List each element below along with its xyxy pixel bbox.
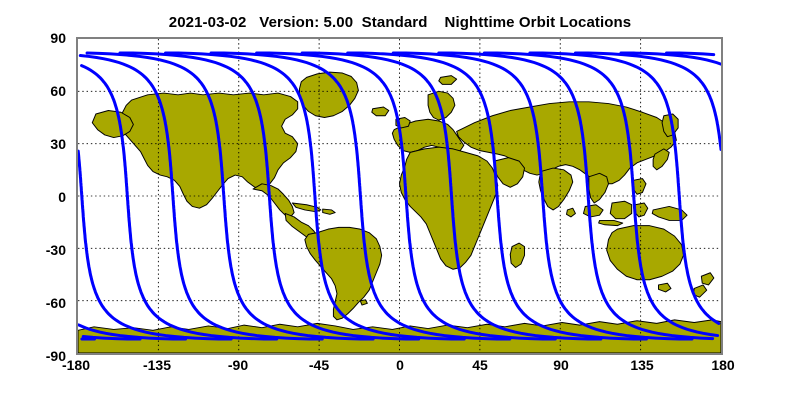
land-madagascar xyxy=(510,243,524,267)
y-tick-label-60: 60 xyxy=(2,84,66,98)
x-tick-label-45: 45 xyxy=(450,358,510,372)
land-iceland xyxy=(372,107,389,116)
x-tick-label--180: -180 xyxy=(46,358,106,372)
y-tick-label-90: 90 xyxy=(2,31,66,45)
figure: 2021-03-02 Version: 5.00 Standard Nightt… xyxy=(0,0,800,400)
y-tick-label-0: 0 xyxy=(2,190,66,204)
land-borneo xyxy=(610,201,631,218)
land-new-zealand-north xyxy=(701,273,714,285)
chart-title: 2021-03-02 Version: 5.00 Standard Nightt… xyxy=(0,14,800,31)
plot-area xyxy=(76,37,723,355)
x-tick-label--45: -45 xyxy=(289,358,349,372)
land-svalbard xyxy=(439,76,457,85)
y-tick-label--60: -60 xyxy=(2,296,66,310)
land-baja-mexico xyxy=(253,184,294,217)
x-tick-label-0: 0 xyxy=(370,358,430,372)
map-canvas xyxy=(78,39,721,353)
y-tick-label--30: -30 xyxy=(2,243,66,257)
land-hispaniola xyxy=(323,209,336,214)
y-tick-label-30: 30 xyxy=(2,137,66,151)
land-australia xyxy=(607,226,684,280)
x-tick-label-90: 90 xyxy=(531,358,591,372)
land-java xyxy=(599,220,623,225)
land-tasmania xyxy=(658,283,671,292)
land-arabia xyxy=(494,158,524,188)
x-tick-label-180: 180 xyxy=(693,358,753,372)
x-tick-label-135: 135 xyxy=(612,358,672,372)
land-sri-lanka xyxy=(567,208,576,217)
land-indochina xyxy=(589,173,609,203)
x-tick-label--135: -135 xyxy=(127,358,187,372)
land-sumatra xyxy=(583,205,603,217)
world-map-svg xyxy=(78,39,721,353)
x-tick-label--90: -90 xyxy=(208,358,268,372)
